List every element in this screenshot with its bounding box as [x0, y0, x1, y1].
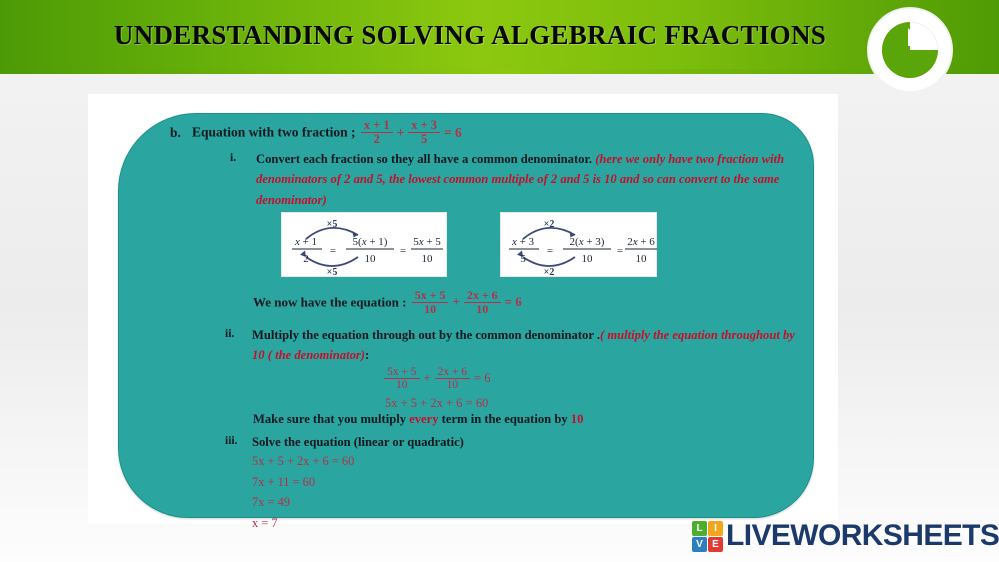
- liveworksheets-wordmark: LIVEWORKSHEETS: [726, 519, 999, 553]
- step-ii: ii. Multiply the equation through out by…: [225, 325, 805, 366]
- liveworksheets-logo[interactable]: L I V E LIVEWORKSHEETS: [692, 519, 999, 553]
- svg-text:=: =: [547, 245, 553, 257]
- multiplier-bottom-label: ×2: [544, 267, 555, 278]
- svg-text:=: =: [330, 245, 336, 257]
- step-i: i. Convert each fraction so they all hav…: [230, 149, 790, 210]
- svg-text:10: 10: [422, 253, 434, 265]
- page-title: UNDERSTANDING SOLVING ALGEBRAIC FRACTION…: [0, 20, 940, 51]
- svg-text:10: 10: [636, 253, 648, 265]
- frac-num: 5x + 5: [412, 289, 449, 303]
- equation-expanded-line: 5x + 5 + 2x + 6 = 60: [385, 394, 493, 412]
- make-sure-number: 10: [571, 412, 584, 426]
- header-underline: [0, 69, 999, 74]
- frac-den: 10: [412, 303, 449, 316]
- svg-text:5(x + 1): 5(x + 1): [353, 236, 388, 248]
- tile-l: L: [692, 521, 707, 536]
- equals-six: = 6: [442, 125, 464, 140]
- equation-block-step-ii: 5x + 510+2x + 610= 6 5x + 5 + 2x + 6 = 6…: [382, 366, 493, 412]
- svg-text:=: =: [400, 245, 406, 257]
- svg-text:10: 10: [365, 253, 377, 265]
- step-ii-label: ii.: [225, 325, 234, 344]
- svg-text:10: 10: [582, 253, 594, 265]
- item-b-label: b.: [170, 125, 192, 141]
- solution-line: 7x + 11 = 60: [252, 472, 354, 493]
- step-ii-note-tail: :: [365, 348, 369, 362]
- equals-six: = 6: [472, 371, 492, 385]
- make-sure-part2: term in the equation by: [439, 412, 571, 426]
- now-have-equation: 5x + 510+2x + 610= 6: [410, 294, 524, 309]
- svg-text:5: 5: [520, 253, 526, 265]
- item-b-line: b.Equation with two fraction ; x + 12+x …: [170, 119, 770, 146]
- step-iii-label: iii.: [225, 432, 237, 451]
- slide-page: UNDERSTANDING SOLVING ALGEBRAIC FRACTION…: [0, 0, 999, 562]
- multiplier-bottom-label: ×5: [327, 267, 338, 278]
- frac-den: 5: [408, 133, 440, 146]
- make-sure-emphasis: every: [409, 412, 438, 426]
- item-b-text: Equation with two fraction ;: [192, 125, 356, 140]
- solution-line: 5x + 5 + 2x + 6 = 60: [252, 451, 354, 472]
- frac-num: x + 3: [408, 119, 440, 133]
- make-sure-line: Make sure that you multiply every term i…: [253, 412, 583, 427]
- tile-i: I: [708, 521, 723, 536]
- frac-den: 10: [464, 303, 501, 316]
- step-ii-heading: Multiply the equation through out by the…: [252, 328, 600, 342]
- now-have-text: We now have the equation :: [253, 294, 406, 309]
- conversion-box-right: ×2 ×2 x + 3 5 = 2(x + 3) 10 = 2x + 6 10: [500, 212, 657, 277]
- equals-six: = 6: [503, 294, 524, 309]
- svg-text:5x + 5: 5x + 5: [413, 236, 441, 248]
- plus-sign: +: [450, 294, 461, 309]
- tile-e: E: [708, 537, 723, 552]
- frac-den: 10: [384, 379, 420, 391]
- plus-sign: +: [422, 371, 433, 385]
- solution-line: x = 7: [252, 513, 354, 534]
- tile-v: V: [692, 537, 707, 552]
- svg-text:x + 1: x + 1: [294, 236, 317, 248]
- plus-sign: +: [395, 125, 407, 140]
- step-iii: iii. Solve the equation (linear or quadr…: [225, 432, 745, 452]
- svg-text:=: =: [617, 245, 623, 257]
- frac-num: 2x + 6: [464, 289, 501, 303]
- frac-num: x + 1: [361, 119, 393, 133]
- frac-den: 2: [361, 133, 393, 146]
- svg-text:2: 2: [303, 253, 309, 265]
- step-i-heading: Convert each fraction so they all have a…: [256, 152, 592, 166]
- make-sure-part1: Make sure that you multiply: [253, 412, 409, 426]
- frac-num: 2x + 6: [435, 366, 471, 379]
- frac-num: 5x + 5: [384, 366, 420, 379]
- svg-text:2x + 6: 2x + 6: [627, 236, 655, 248]
- svg-text:x + 3: x + 3: [511, 236, 535, 248]
- circular-arrow-logo-icon: [864, 2, 956, 94]
- frac-den: 10: [435, 379, 471, 391]
- now-have-equation-line: We now have the equation : 5x + 510+2x +…: [253, 289, 524, 315]
- solution-steps: 5x + 5 + 2x + 6 = 60 7x + 11 = 60 7x = 4…: [252, 451, 354, 533]
- liveworksheets-tiles-icon: L I V E: [692, 521, 723, 552]
- solution-line: 7x = 49: [252, 492, 354, 513]
- conversion-box-left: ×5 ×5 x + 1 2 = 5(x + 1) 10 = 5x + 5 10: [281, 212, 447, 277]
- svg-text:2(x + 3): 2(x + 3): [570, 236, 605, 248]
- step-iii-heading: Solve the equation (linear or quadratic): [252, 432, 745, 452]
- step-i-label: i.: [230, 149, 236, 168]
- slide-header: UNDERSTANDING SOLVING ALGEBRAIC FRACTION…: [0, 0, 999, 69]
- item-b-equation: x + 12+x + 35= 6: [359, 125, 464, 140]
